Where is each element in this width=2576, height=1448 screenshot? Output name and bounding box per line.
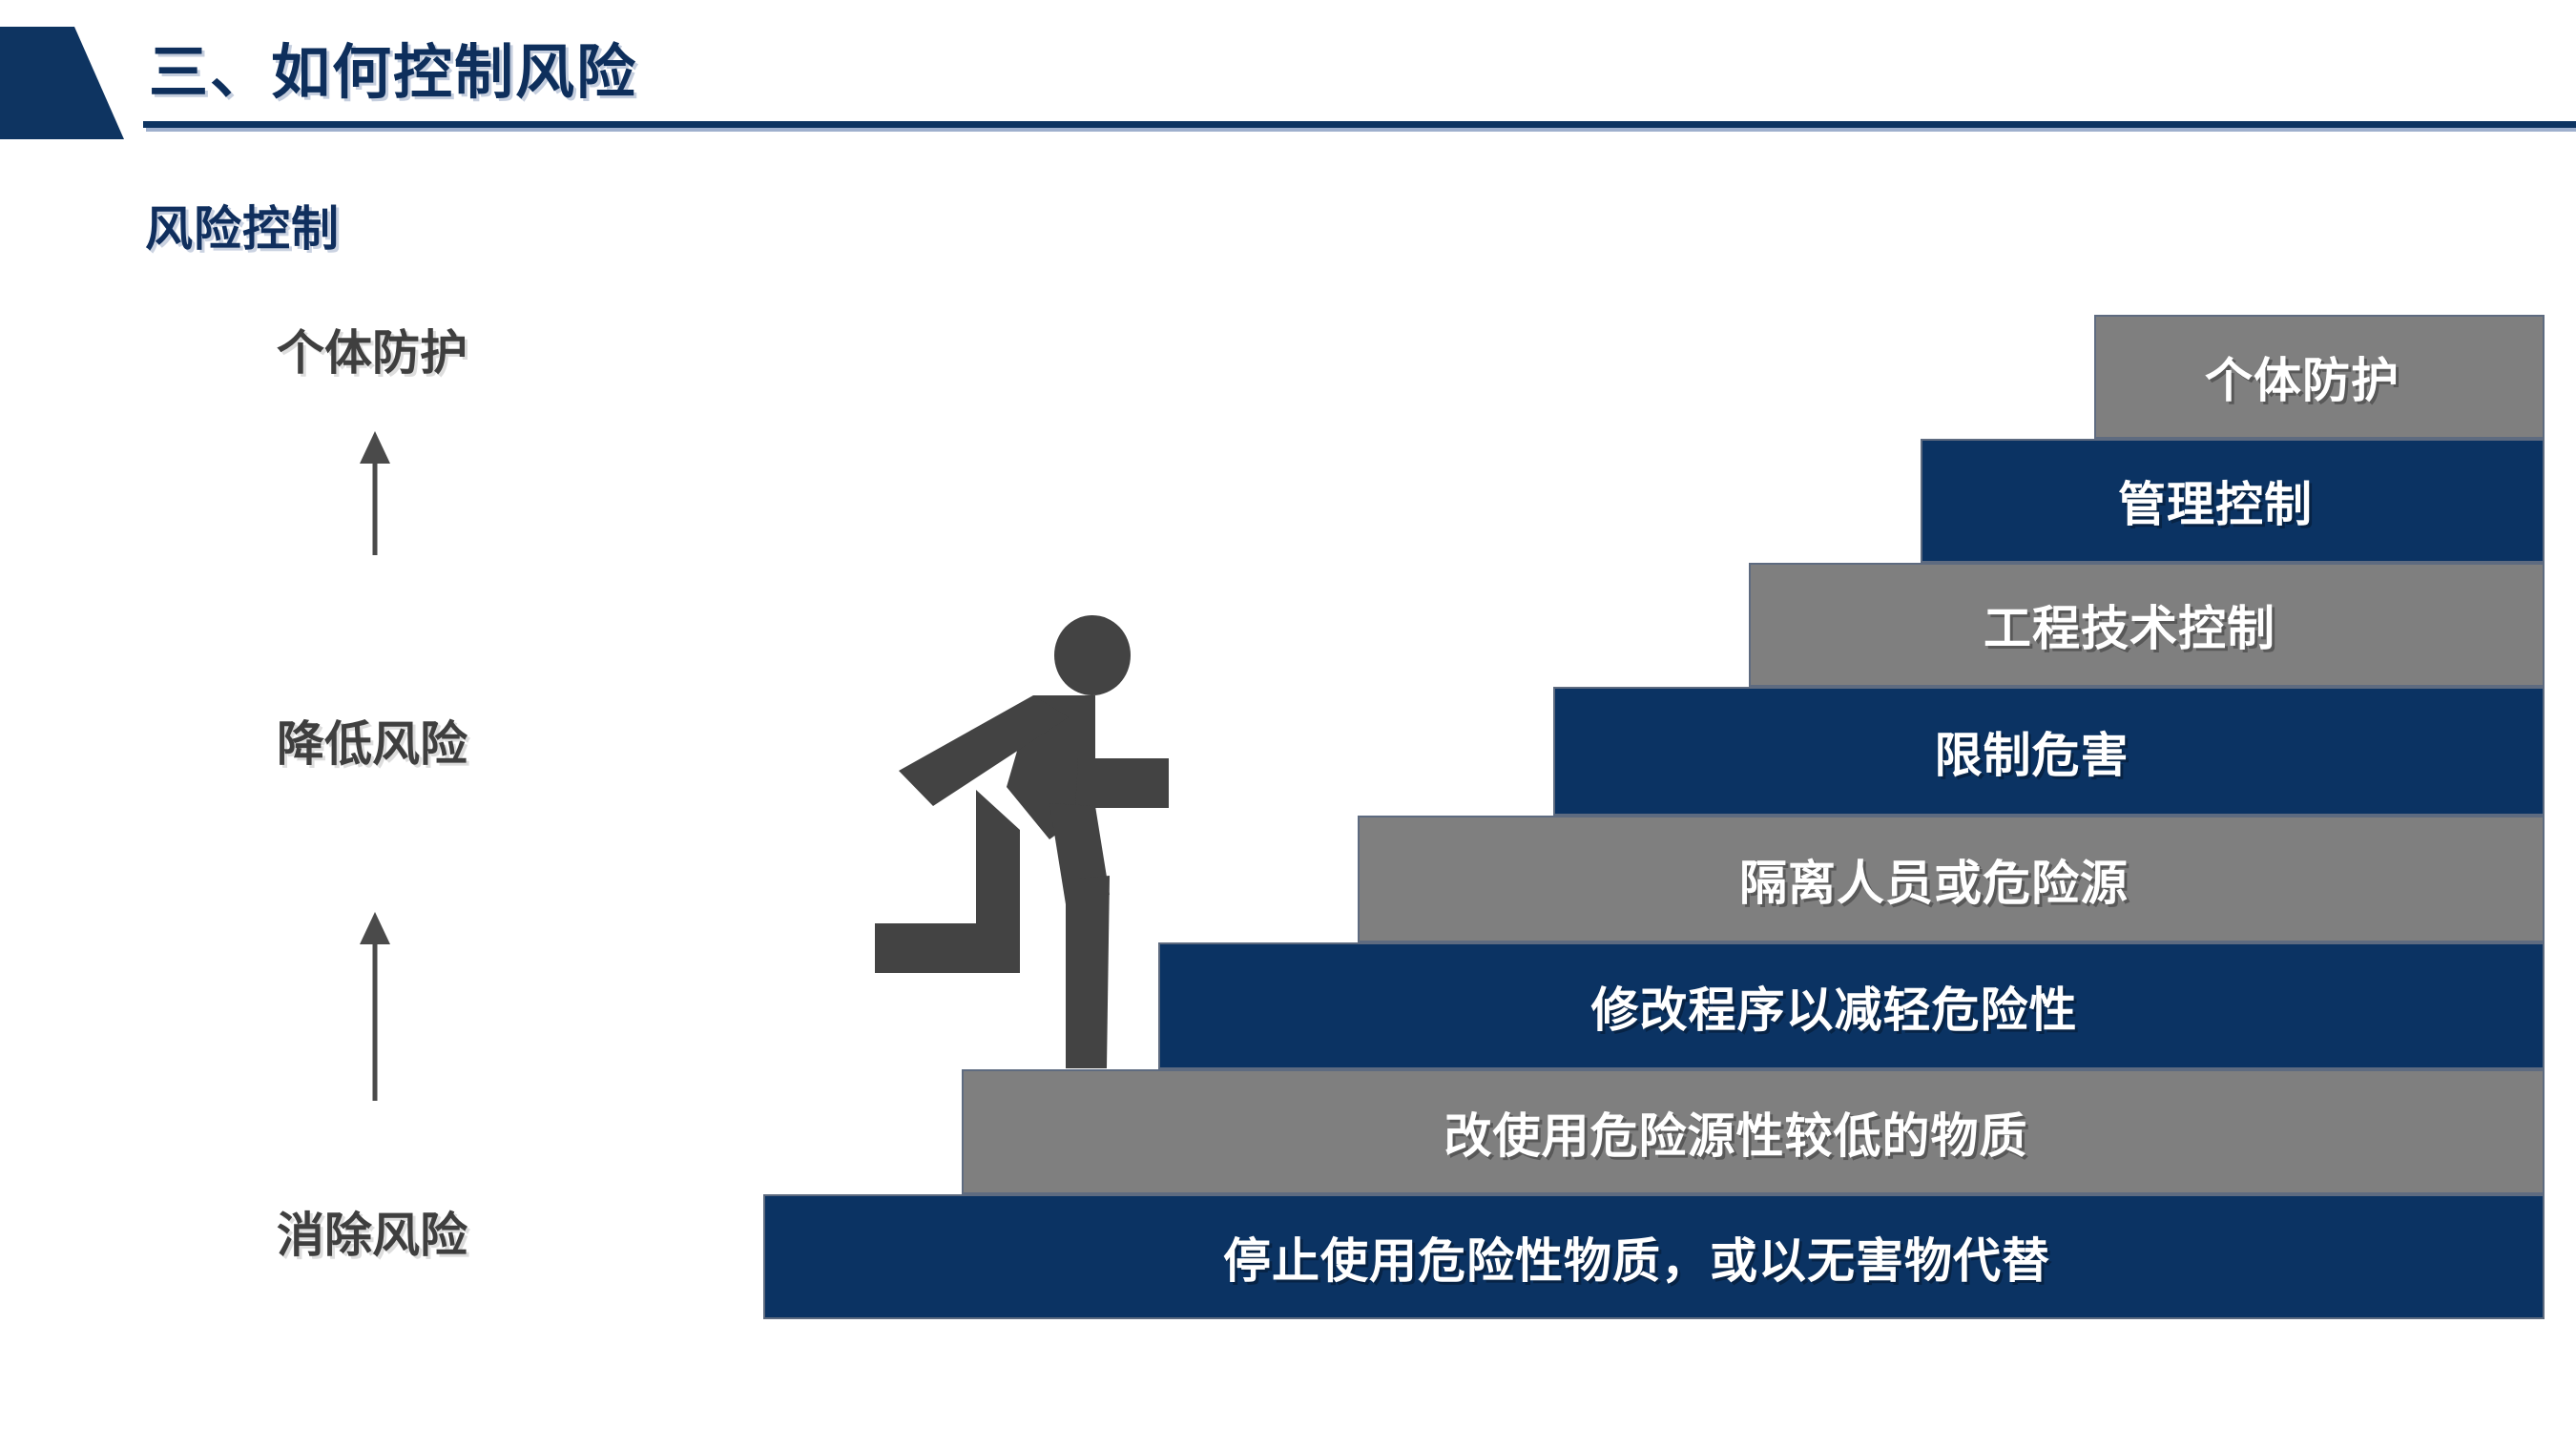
- stair-step-label: 隔离人员或危险源: [1739, 845, 2129, 914]
- stair-step-label: 限制危害: [1935, 717, 2129, 786]
- running-person-icon: [854, 601, 1169, 1068]
- stair-step[interactable]: 改使用危险源性较低的物质: [962, 1069, 2545, 1194]
- stair-step-label: 管理控制: [2118, 466, 2313, 535]
- stair-step[interactable]: 修改程序以减轻危险性: [1158, 942, 2545, 1069]
- stair-step-label: 改使用危险源性较低的物质: [1444, 1098, 2028, 1167]
- stair-step[interactable]: 工程技术控制: [1749, 563, 2545, 687]
- stair-step-label: 个体防护: [2205, 342, 2399, 411]
- stair-step[interactable]: 管理控制: [1921, 439, 2545, 563]
- slide-canvas: 三、如何控制风险 风险控制 个体防护 降低风险 消除风险 个体防护管理控制工程技…: [0, 0, 2576, 1448]
- stair-step[interactable]: 停止使用危险性物质，或以无害物代替: [763, 1194, 2545, 1319]
- stair-step-label: 修改程序以减轻危险性: [1591, 972, 2078, 1041]
- stair-step-label: 停止使用危险性物质，或以无害物代替: [1223, 1223, 2050, 1292]
- stair-step[interactable]: 个体防护: [2094, 315, 2545, 439]
- stair-step[interactable]: 隔离人员或危险源: [1358, 816, 2545, 942]
- stair-step-label: 工程技术控制: [1984, 590, 2275, 659]
- risk-control-staircase: 个体防护管理控制工程技术控制限制危害隔离人员或危险源修改程序以减轻危险性改使用危…: [0, 0, 2576, 1448]
- stair-step[interactable]: 限制危害: [1553, 687, 2545, 816]
